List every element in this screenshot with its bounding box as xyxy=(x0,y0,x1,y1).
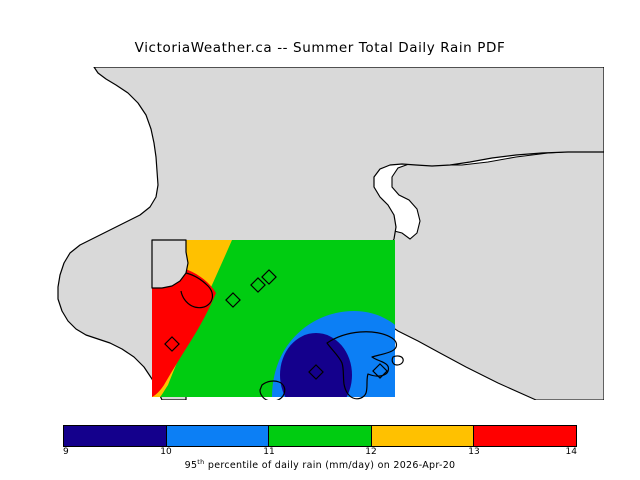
page-title: VictoriaWeather.ca -- Summer Total Daily… xyxy=(0,40,640,56)
colorbar-tick-13: 13 xyxy=(468,447,479,457)
colorbar-segment-11-12[interactable] xyxy=(269,426,372,446)
caption-text: percentile of daily rain (mm/day) on 202… xyxy=(205,460,456,471)
colorbar[interactable] xyxy=(63,425,577,447)
contour-fill-layer xyxy=(152,240,404,400)
colorbar-tick-14: 14 xyxy=(566,447,577,457)
colorbar-tick-10: 10 xyxy=(160,447,171,457)
colorbar-tick-9: 9 xyxy=(63,447,69,457)
weather-map-page: VictoriaWeather.ca -- Summer Total Daily… xyxy=(0,0,640,480)
colorbar-wrapper[interactable] xyxy=(63,425,577,447)
colorbar-segment-10-11[interactable] xyxy=(167,426,270,446)
caption-percentile-number: 95 xyxy=(185,460,198,471)
map-canvas[interactable] xyxy=(36,67,604,400)
colorbar-segment-9-10[interactable] xyxy=(64,426,167,446)
map-svg xyxy=(36,67,604,400)
colorbar-caption: 95th percentile of daily rain (mm/day) o… xyxy=(0,458,640,471)
colorbar-tick-12: 12 xyxy=(365,447,376,457)
colorbar-tick-11: 11 xyxy=(263,447,274,457)
colorbar-segment-12-13[interactable] xyxy=(372,426,475,446)
colorbar-shadow xyxy=(3,3,517,25)
caption-ordinal-suffix: th xyxy=(197,458,204,466)
colorbar-segment-13-14[interactable] xyxy=(474,426,576,446)
